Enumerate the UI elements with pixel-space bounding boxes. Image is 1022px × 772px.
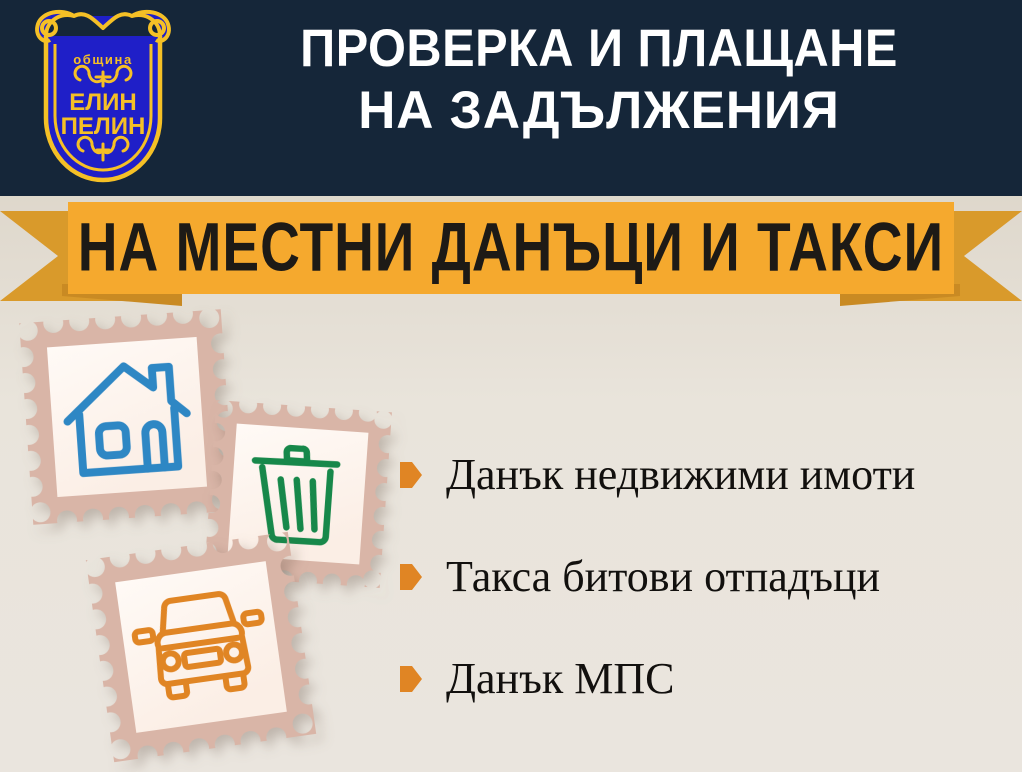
bullet-arrow-icon [400,666,422,692]
list-item[interactable]: Данък недвижими имоти [400,424,1010,526]
ribbon-label: НА МЕСТНИ ДАНЪЦИ И ТАКСИ [78,213,944,284]
stamp-car [70,516,332,772]
ribbon-band: НА МЕСТНИ ДАНЪЦИ И ТАКСИ [68,202,954,294]
crest-label-top: община [73,52,133,67]
tax-type-list: Данък недвижими имоти Такса битови отпад… [400,424,1010,730]
list-item-label: Такса битови отпадъци [446,552,880,602]
list-item[interactable]: Данък МПС [400,628,1010,730]
title-line-1: ПРОВЕРКА И ПЛАЩАНЕ [219,18,979,80]
list-item-label: Данък МПС [446,654,674,704]
page-title: ПРОВЕРКА И ПЛАЩАНЕ НА ЗАДЪЛЖЕНИЯ [186,18,1012,142]
crest-name-line2: ПЕЛИН [61,113,146,140]
crest-name-line1: ЕЛИН [69,89,136,116]
subtitle-ribbon: НА МЕСТНИ ДАНЪЦИ И ТАКСИ [0,196,1022,308]
bullet-arrow-icon [400,564,422,590]
list-item-label: Данък недвижими имоти [446,450,915,500]
car-stamp-svg [70,516,332,772]
crest-svg: община ЕЛИН ПЕЛИН [28,6,178,192]
stamp-group [0,296,420,772]
title-line-2: НА ЗАДЪЛЖЕНИЯ [198,80,999,142]
list-item[interactable]: Такса битови отпадъци [400,526,1010,628]
bullet-arrow-icon [400,462,422,488]
municipality-crest: община ЕЛИН ПЕЛИН [28,6,178,192]
poster: Данък недвижими имоти Такса битови отпад… [0,0,1022,772]
header-bar: община ЕЛИН ПЕЛИН [0,0,1022,196]
